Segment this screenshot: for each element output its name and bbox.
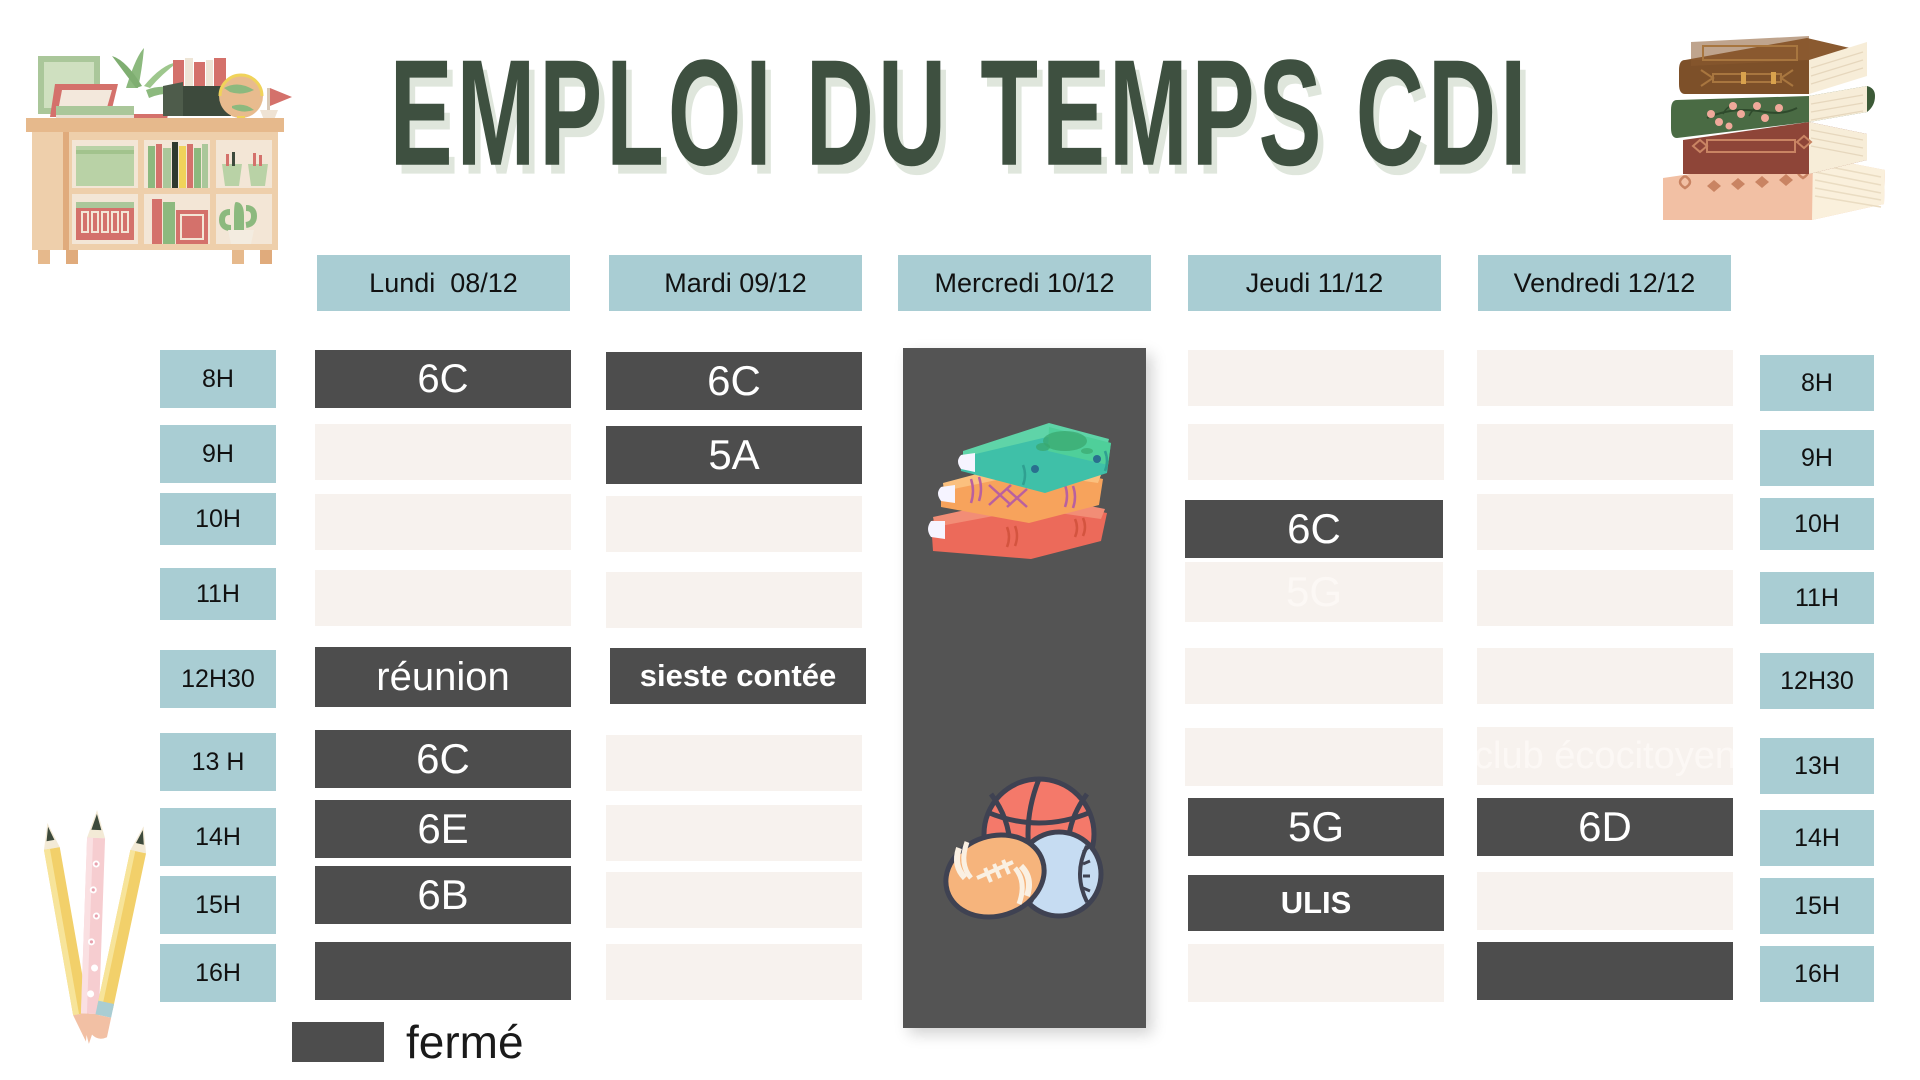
- slot-mardi-4[interactable]: sieste contée: [610, 648, 866, 704]
- hour-label-left-6: 14H: [160, 808, 276, 866]
- slot-lundi-2[interactable]: [315, 494, 571, 550]
- hour-label-right-5: 13H: [1760, 738, 1874, 794]
- hour-label-right-4: 12H30: [1760, 653, 1874, 709]
- slot-mardi-1[interactable]: 5A: [606, 426, 862, 484]
- hour-label-left-3: 11H: [160, 568, 276, 620]
- slot-mardi-8[interactable]: [606, 944, 862, 1000]
- slot-vendredi-5[interactable]: club écocitoyen: [1477, 727, 1733, 785]
- slot-jeudi-4[interactable]: [1185, 648, 1443, 704]
- slot-jeudi-6[interactable]: 5G: [1188, 798, 1444, 856]
- slot-vendredi-7[interactable]: [1477, 872, 1733, 930]
- slot-jeudi-1[interactable]: [1188, 424, 1444, 480]
- book-stack-watercolor-icon: [919, 393, 1129, 583]
- hour-label-right-6: 14H: [1760, 810, 1874, 866]
- slot-jeudi-2[interactable]: 6C: [1185, 500, 1443, 558]
- hour-label-left-4: 12H30: [160, 650, 276, 708]
- day-header-mercredi: Mercredi 10/12: [898, 255, 1151, 311]
- day-header-mardi: Mardi 09/12: [609, 255, 862, 311]
- sports-balls-icon: [931, 768, 1121, 943]
- slot-vendredi-1[interactable]: [1477, 424, 1733, 480]
- hour-label-right-0: 8H: [1760, 355, 1874, 411]
- slot-mardi-5[interactable]: [606, 735, 862, 791]
- day-header-jeudi: Jeudi 11/12: [1188, 255, 1441, 311]
- slot-vendredi-4[interactable]: [1477, 648, 1733, 704]
- slot-jeudi-0[interactable]: [1188, 350, 1444, 406]
- hour-label-left-7: 15H: [160, 876, 276, 934]
- hour-label-right-2: 10H: [1760, 498, 1874, 550]
- day-header-vendredi: Vendredi 12/12: [1478, 255, 1731, 311]
- slot-jeudi-5[interactable]: [1185, 728, 1443, 786]
- slot-lundi-1[interactable]: [315, 424, 571, 480]
- day-header-lundi: Lundi 08/12: [317, 255, 570, 311]
- legend-swatch-ferme: [292, 1022, 384, 1062]
- slot-mardi-6[interactable]: [606, 805, 862, 861]
- pencils-illustration: [18, 808, 168, 1058]
- slot-mardi-2[interactable]: [606, 496, 862, 552]
- slot-jeudi-8[interactable]: [1188, 944, 1444, 1002]
- slot-vendredi-2[interactable]: [1477, 494, 1733, 550]
- slot-lundi-7[interactable]: 6B: [315, 866, 571, 924]
- stacked-books-illustration: [1645, 18, 1905, 233]
- hour-label-right-8: 16H: [1760, 946, 1874, 1002]
- slot-vendredi-8[interactable]: [1477, 942, 1733, 1000]
- hour-label-right-3: 11H: [1760, 572, 1874, 624]
- slot-mardi-0[interactable]: 6C: [606, 352, 862, 410]
- slot-jeudi-3[interactable]: 5G: [1185, 562, 1443, 622]
- slot-vendredi-0[interactable]: [1477, 350, 1733, 406]
- slot-lundi-5[interactable]: 6C: [315, 730, 571, 788]
- slot-lundi-3[interactable]: [315, 570, 571, 626]
- slot-lundi-8[interactable]: [315, 942, 571, 1000]
- legend-label-ferme: fermé: [406, 1015, 524, 1069]
- timetable-page: EMPLOI DU TEMPS CDI: [0, 0, 1920, 1080]
- hour-label-right-7: 15H: [1760, 878, 1874, 934]
- slot-jeudi-7[interactable]: ULIS: [1188, 875, 1444, 931]
- hour-label-left-2: 10H: [160, 493, 276, 545]
- page-title: EMPLOI DU TEMPS CDI: [192, 38, 1728, 189]
- hour-label-left-5: 13 H: [160, 733, 276, 791]
- hour-label-right-1: 9H: [1760, 430, 1874, 486]
- hour-label-left-8: 16H: [160, 944, 276, 1002]
- legend: fermé: [292, 1015, 524, 1069]
- slot-mardi-7[interactable]: [606, 872, 862, 928]
- slot-vendredi-6[interactable]: 6D: [1477, 798, 1733, 856]
- slot-lundi-6[interactable]: 6E: [315, 800, 571, 858]
- hour-label-left-0: 8H: [160, 350, 276, 408]
- slot-lundi-0[interactable]: 6C: [315, 350, 571, 408]
- hour-label-left-1: 9H: [160, 425, 276, 483]
- slot-lundi-4[interactable]: réunion: [315, 647, 571, 707]
- slot-vendredi-3[interactable]: [1477, 570, 1733, 626]
- bookshelf-illustration: [8, 14, 298, 264]
- slot-mercredi-closed-allday[interactable]: [903, 348, 1146, 1028]
- slot-mardi-3[interactable]: [606, 572, 862, 628]
